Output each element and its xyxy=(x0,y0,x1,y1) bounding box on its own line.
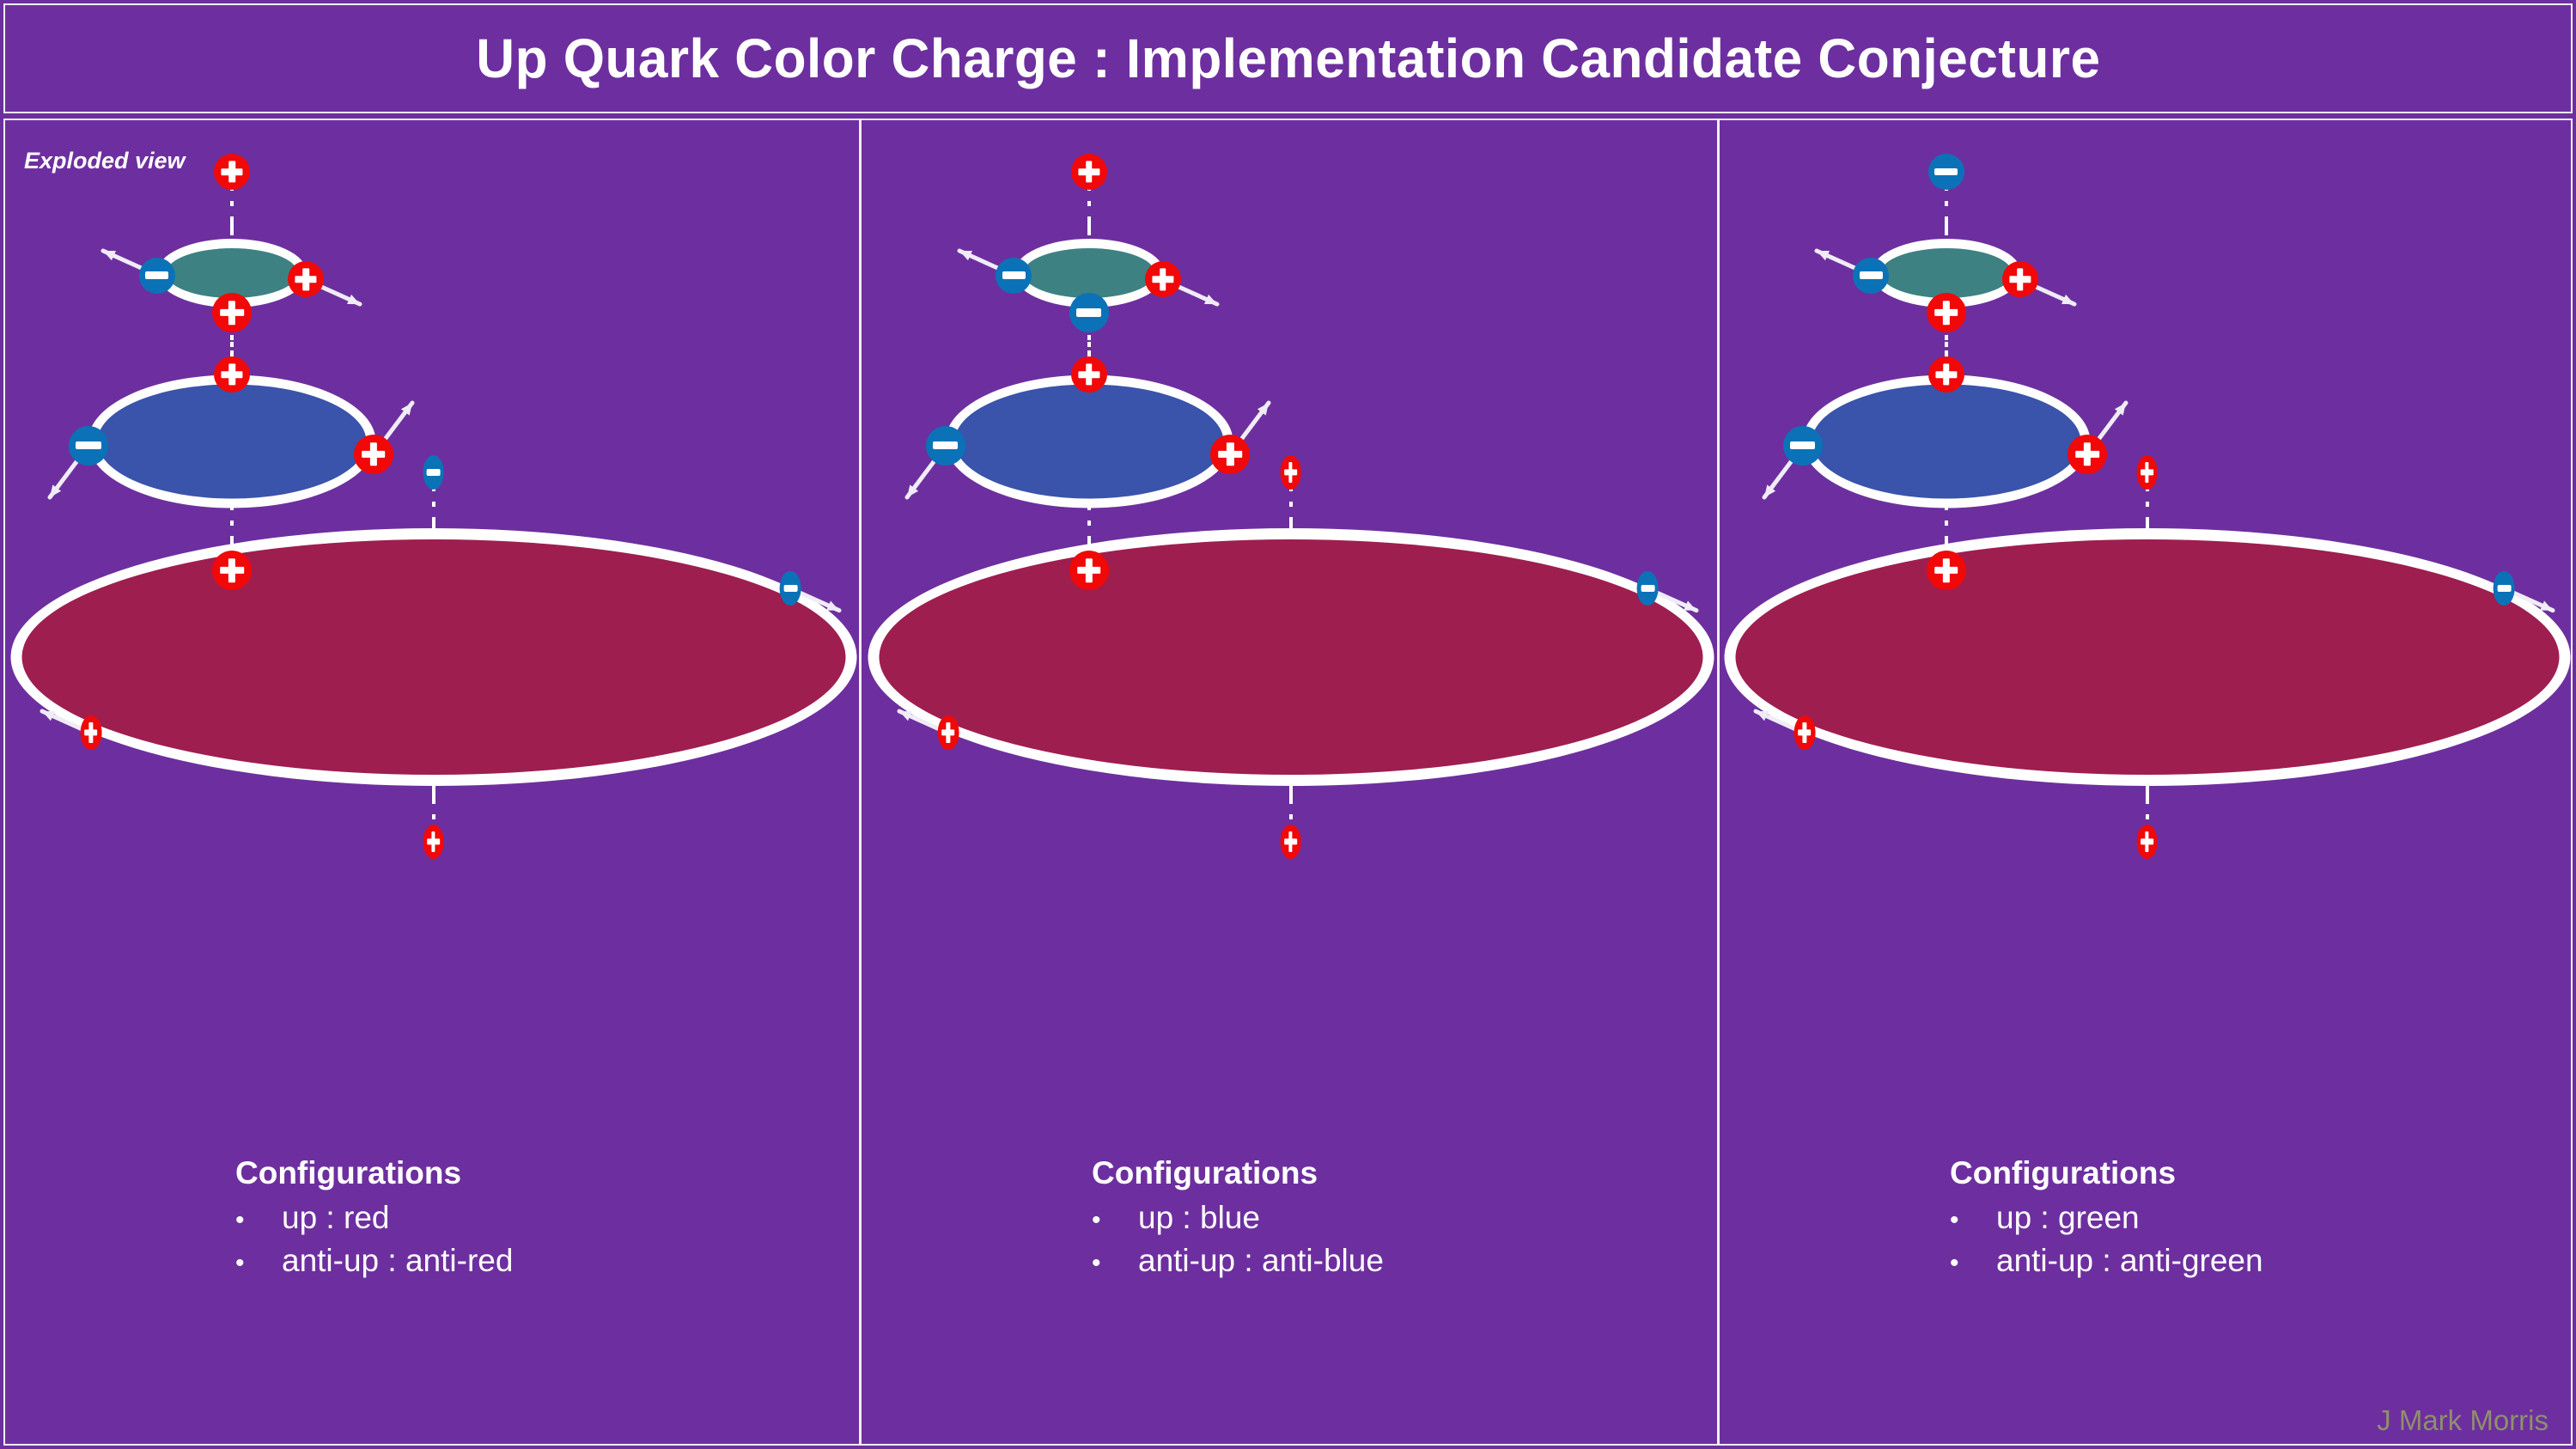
orbit-right-positive-charge-icon xyxy=(1210,435,1250,474)
charge-glyph xyxy=(2497,585,2511,592)
title-bar: Up Quark Color Charge : Implementation C… xyxy=(3,3,2573,113)
charge-glyph xyxy=(1799,722,1812,743)
axis-top-negative-charge-icon xyxy=(423,455,444,490)
charge-glyph xyxy=(942,722,955,743)
charge-glyph xyxy=(1934,558,1958,582)
charge-glyph xyxy=(1078,161,1099,182)
charge-glyph xyxy=(362,442,386,466)
charge-glyph xyxy=(295,269,317,290)
charge-glyph xyxy=(1934,301,1958,325)
list-item: •up : blue xyxy=(1092,1200,1384,1236)
charge-glyph xyxy=(145,271,168,278)
charge-glyph xyxy=(783,585,797,592)
axis-bottom-positive-charge-icon xyxy=(212,551,252,590)
orbit-right-positive-charge-icon xyxy=(2067,435,2107,474)
bullet-icon: • xyxy=(235,1208,282,1233)
axis-bottom-positive-charge-icon xyxy=(423,825,444,859)
bullet-icon: • xyxy=(235,1251,282,1276)
orbit-right-negative-charge-icon xyxy=(1637,571,1659,606)
configurations-block: Configurations•up : red•anti-up : anti-r… xyxy=(235,1155,513,1286)
charge-glyph xyxy=(1790,441,1815,449)
orbit-left-negative-charge-icon xyxy=(996,258,1032,294)
charge-glyph xyxy=(1935,363,1957,385)
diagram-board: Exploded view Configurations•up : red•an… xyxy=(3,119,2573,1446)
axis-bottom-positive-charge-icon xyxy=(214,356,250,393)
configurations-block: Configurations•up : blue•anti-up : anti-… xyxy=(1092,1155,1384,1286)
configuration-label: up : green xyxy=(1996,1200,2140,1236)
charge-glyph xyxy=(1076,308,1101,316)
charge-glyph xyxy=(2075,442,2099,466)
diagram-root: Up Quark Color Charge : Implementation C… xyxy=(0,0,2576,1449)
axis-top-negative-charge-icon xyxy=(1069,293,1109,332)
charge-glyph xyxy=(2141,831,2153,852)
axis-bottom-positive-charge-icon xyxy=(1280,825,1301,859)
charge-glyph xyxy=(1218,442,1242,466)
axis-top-positive-charge-icon xyxy=(1927,293,1966,332)
page-title: Up Quark Color Charge : Implementation C… xyxy=(476,27,2100,90)
charge-glyph xyxy=(1641,585,1654,592)
charge-ring xyxy=(10,528,856,786)
axis-bottom-positive-charge-icon xyxy=(1928,356,1964,393)
charge-glyph xyxy=(1284,831,1297,852)
charge-glyph xyxy=(220,301,244,325)
charge-glyph xyxy=(1077,558,1101,582)
configurations-list: •up : green•anti-up : anti-green xyxy=(1950,1200,2263,1279)
orbit-right-negative-charge-icon xyxy=(780,571,801,606)
column-green: Configurations•up : green•anti-up : anti… xyxy=(1720,120,2574,1444)
axis-bottom-positive-charge-icon xyxy=(2136,825,2158,859)
bullet-icon: • xyxy=(1092,1208,1138,1233)
list-item: •anti-up : anti-green xyxy=(1950,1243,2263,1279)
configurations-block: Configurations•up : green•anti-up : anti… xyxy=(1950,1155,2263,1286)
bullet-icon: • xyxy=(1950,1251,1996,1276)
list-item: •anti-up : anti-blue xyxy=(1092,1243,1384,1279)
axis-top-positive-charge-icon xyxy=(214,154,250,190)
axis-top-positive-charge-icon xyxy=(1280,455,1301,490)
column-blue: Configurations•up : blue•anti-up : anti-… xyxy=(862,120,1720,1444)
charge-glyph xyxy=(85,722,98,743)
list-item: •anti-up : anti-red xyxy=(235,1243,513,1279)
charge-glyph xyxy=(427,831,440,852)
charge-glyph xyxy=(76,441,100,449)
orbit-right-positive-charge-icon xyxy=(354,435,393,474)
orbit-left-negative-charge-icon xyxy=(139,258,175,294)
bullet-icon: • xyxy=(1950,1208,1996,1233)
charge-glyph xyxy=(1860,271,1883,278)
orbit-left-negative-charge-icon xyxy=(926,426,965,466)
orbit-right-positive-charge-icon xyxy=(1145,261,1181,297)
charge-glyph xyxy=(220,558,244,582)
charge-glyph xyxy=(222,363,243,385)
charge-ring xyxy=(1724,528,2570,786)
charge-glyph xyxy=(1152,269,1173,290)
orbit-left-negative-charge-icon xyxy=(1853,258,1889,294)
charge-glyph xyxy=(427,469,441,476)
charge-glyph xyxy=(1002,271,1026,278)
axis-top-negative-charge-icon xyxy=(1928,154,1964,190)
orbit-left-positive-charge-icon xyxy=(1794,715,1816,750)
configurations-list: •up : red•anti-up : anti-red xyxy=(235,1200,513,1279)
charge-glyph xyxy=(2009,269,2031,290)
orbit-left-positive-charge-icon xyxy=(81,715,102,750)
charge-glyph xyxy=(1934,168,1958,175)
configurations-heading: Configurations xyxy=(1092,1155,1384,1191)
axis-top-positive-charge-icon xyxy=(1071,154,1107,190)
orbit-left-positive-charge-icon xyxy=(938,715,959,750)
orbit-right-negative-charge-icon xyxy=(2494,571,2515,606)
configuration-label: anti-up : anti-green xyxy=(1996,1243,2263,1279)
column-red: Configurations•up : red•anti-up : anti-r… xyxy=(5,120,862,1444)
charge-glyph xyxy=(2141,462,2153,483)
charge-glyph xyxy=(933,441,958,449)
author-signature: J Mark Morris xyxy=(2377,1404,2549,1437)
axis-top-positive-charge-icon xyxy=(212,293,252,332)
axis-bottom-positive-charge-icon xyxy=(1069,551,1109,590)
axis-bottom-positive-charge-icon xyxy=(1927,551,1966,590)
configuration-label: up : blue xyxy=(1138,1200,1260,1236)
configurations-heading: Configurations xyxy=(235,1155,513,1191)
orbit-right-positive-charge-icon xyxy=(288,261,324,297)
charge-glyph xyxy=(1284,462,1297,483)
charge-glyph xyxy=(222,161,243,182)
configurations-list: •up : blue•anti-up : anti-blue xyxy=(1092,1200,1384,1279)
bullet-icon: • xyxy=(1092,1251,1138,1276)
charge-ring xyxy=(868,528,1714,786)
configuration-label: anti-up : anti-blue xyxy=(1138,1243,1384,1279)
configuration-label: up : red xyxy=(282,1200,389,1236)
orbit-left-negative-charge-icon xyxy=(1783,426,1823,466)
configurations-heading: Configurations xyxy=(1950,1155,2263,1191)
axis-top-positive-charge-icon xyxy=(2136,455,2158,490)
charge-glyph xyxy=(1078,363,1099,385)
orbit-left-negative-charge-icon xyxy=(69,426,108,466)
list-item: •up : red xyxy=(235,1200,513,1236)
configuration-label: anti-up : anti-red xyxy=(282,1243,513,1279)
orbit-right-positive-charge-icon xyxy=(2002,261,2038,297)
axis-bottom-positive-charge-icon xyxy=(1071,356,1107,393)
list-item: •up : green xyxy=(1950,1200,2263,1236)
